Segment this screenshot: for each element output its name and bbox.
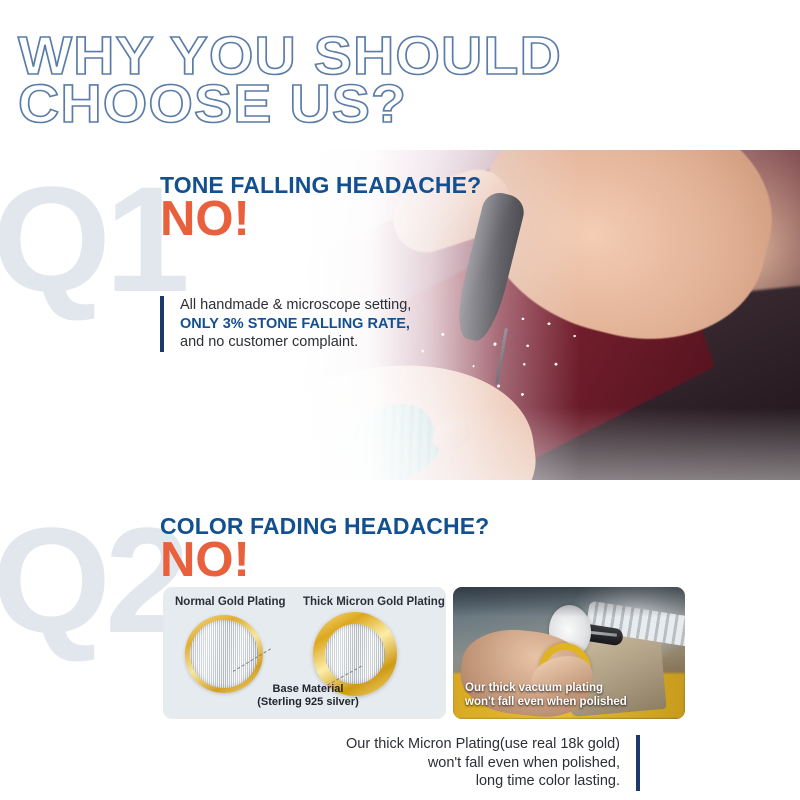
normal-plating-cross-section bbox=[185, 615, 263, 693]
q2-closing-line-3: long time color lasting. bbox=[346, 772, 620, 791]
q2-photo: Our thick vacuum plating won't fall even… bbox=[453, 587, 685, 719]
q1-marker: Q1 bbox=[0, 164, 184, 314]
q2-closing-line-1: Our thick Micron Plating(use real 18k go… bbox=[346, 735, 620, 754]
base-material-label: Base Material (Sterling 925 silver) bbox=[238, 683, 378, 709]
thick-plating-label: Thick Micron Gold Plating bbox=[303, 596, 445, 608]
plating-comparison-diagram: Normal Gold Plating Thick Micron Gold Pl… bbox=[163, 587, 446, 719]
normal-plating-label: Normal Gold Plating bbox=[175, 596, 286, 608]
page-title-line-1: WHY YOU SHOULD bbox=[18, 32, 800, 80]
question-section-q1: Q1 TONE FALLING HEADACHE? NO! All handma… bbox=[0, 150, 800, 485]
photo-top-shade bbox=[453, 587, 685, 617]
q2-closing-block: Our thick Micron Plating(use real 18k go… bbox=[346, 735, 640, 791]
base-material-core bbox=[325, 624, 385, 684]
q2-answer: NO! bbox=[160, 535, 250, 585]
q2-marker: Q2 bbox=[0, 505, 184, 655]
q2-caption-line-1: Our thick vacuum plating bbox=[465, 681, 627, 695]
base-material-core bbox=[190, 620, 258, 688]
q1-quote-line-3: and no customer complaint. bbox=[180, 333, 411, 352]
q1-quote-block: All handmade & microscope setting, ONLY … bbox=[160, 296, 411, 352]
base-material-line-1: Base Material bbox=[238, 683, 378, 696]
q1-answer: NO! bbox=[160, 194, 250, 244]
question-section-q2: Q2 COLOR FADING HEADACHE? NO! Normal Gol… bbox=[0, 495, 800, 800]
q2-closing-line-2: won't fall even when polished, bbox=[346, 754, 620, 773]
page-title-line-2: CHOOSE US? bbox=[18, 80, 800, 128]
base-material-line-2: (Sterling 925 silver) bbox=[238, 696, 378, 709]
q2-photo-caption: Our thick vacuum plating won't fall even… bbox=[465, 681, 627, 709]
q1-quote-line-2: ONLY 3% STONE FALLING RATE, bbox=[180, 315, 411, 334]
q1-quote-line-1: All handmade & microscope setting, bbox=[180, 296, 411, 315]
q2-caption-line-2: won't fall even when polished bbox=[465, 695, 627, 709]
infographic-page: WHY YOU SHOULD CHOOSE US? Q1 TONE FA bbox=[0, 0, 800, 800]
page-title: WHY YOU SHOULD CHOOSE US? bbox=[18, 32, 778, 128]
